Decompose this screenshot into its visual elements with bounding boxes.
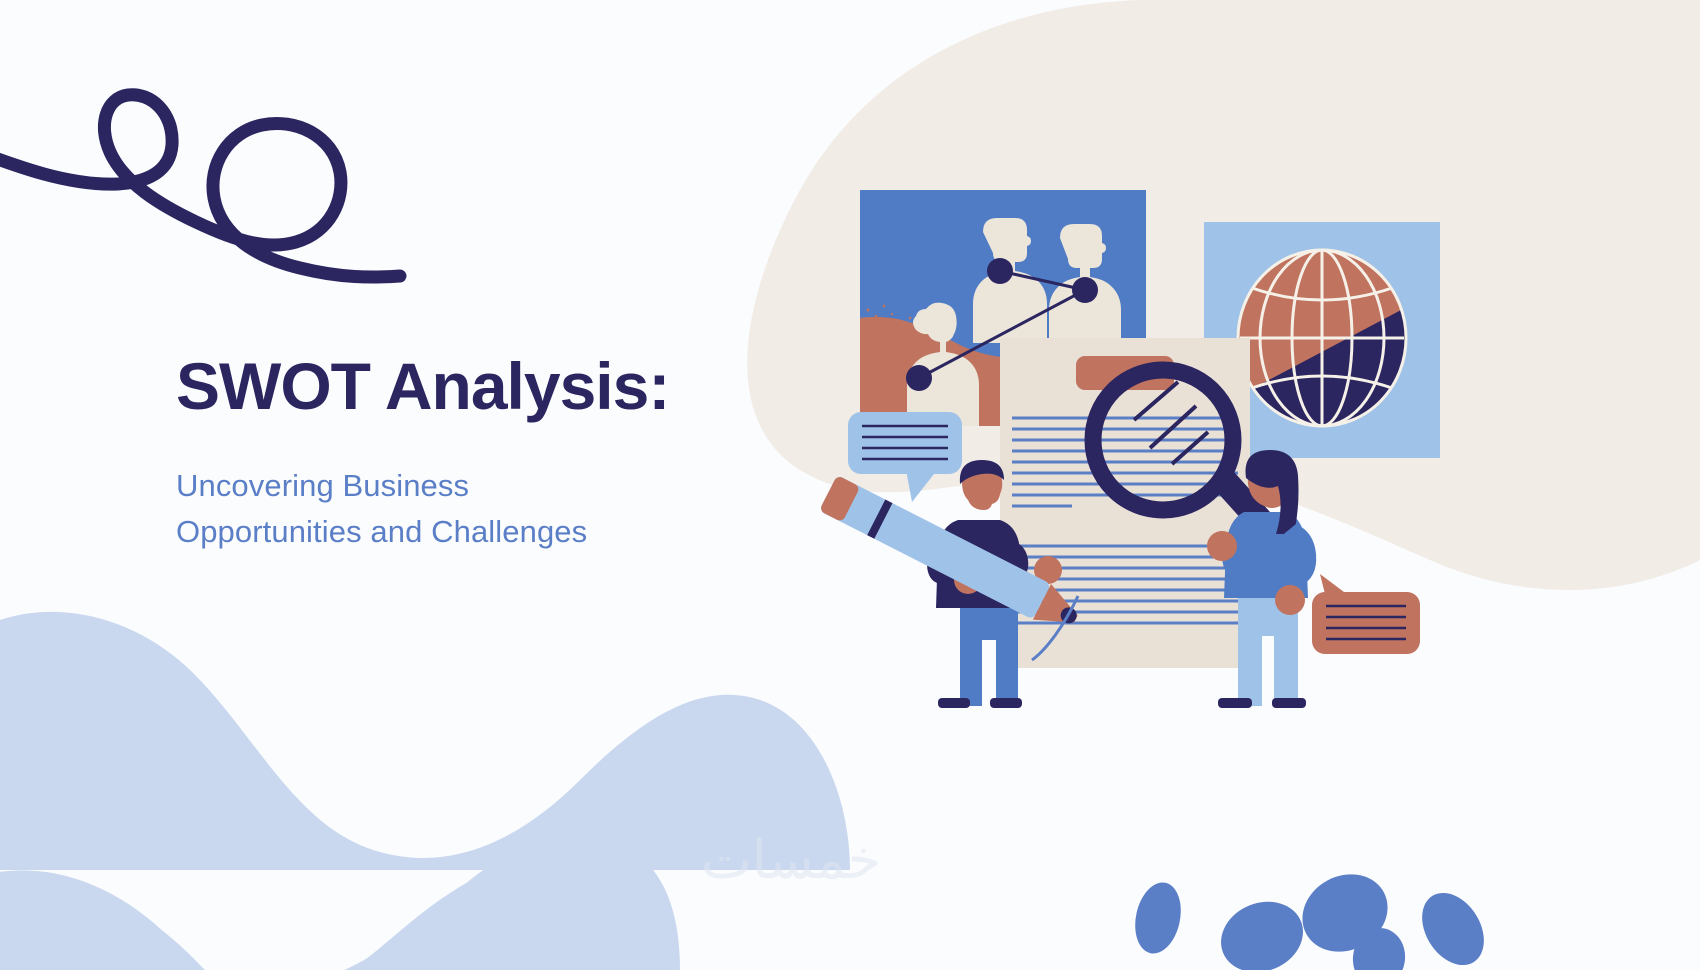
- watermark: خمسات: [686, 826, 896, 896]
- watermark-text: خمسات: [701, 828, 881, 891]
- blue-blob: [1409, 882, 1496, 970]
- page-subtitle-line-1: Uncovering Business: [176, 463, 816, 509]
- title-text-block: SWOT Analysis: Uncovering Business Oppor…: [176, 352, 816, 555]
- page-title: SWOT Analysis:: [176, 352, 816, 421]
- page-subtitle-line-2: Opportunities and Challenges: [176, 509, 816, 555]
- slide-canvas: SWOT Analysis: Uncovering Business Oppor…: [0, 0, 1700, 970]
- page-subtitle: Uncovering Business Opportunities and Ch…: [176, 463, 816, 555]
- blue-blob: [1210, 890, 1313, 970]
- blue-blob: [1129, 878, 1187, 958]
